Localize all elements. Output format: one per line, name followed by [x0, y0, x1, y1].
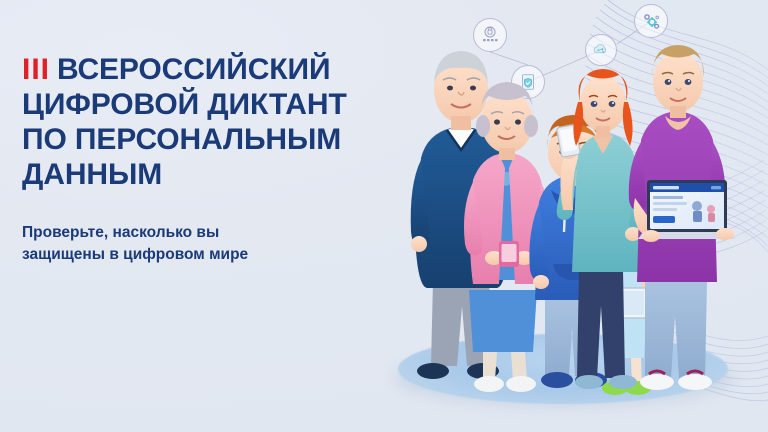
headline-line-1: ВСЕРОССИЙСКИЙ	[57, 53, 330, 86]
edition-number: III	[22, 53, 50, 86]
page-title: IIIВСЕРОССИЙСКИЙ ЦИФРОВОЙ ДИКТАНТ ПО ПЕР…	[22, 52, 442, 192]
headline-line-4: ДАННЫМ	[22, 158, 162, 191]
people-illustration	[395, 30, 735, 430]
headline-line-3: ПО ПЕРСОНАЛЬНЫМ	[22, 123, 341, 156]
subtitle-line-2: защищены в цифровом мире	[22, 246, 248, 263]
page-subtitle: Проверьте, насколько вы защищены в цифро…	[22, 222, 322, 266]
subtitle-line-1: Проверьте, насколько вы	[22, 224, 219, 241]
headline-block: IIIВСЕРОССИЙСКИЙ ЦИФРОВОЙ ДИКТАНТ ПО ПЕР…	[22, 52, 442, 266]
promo-banner: IIIВСЕРОССИЙСКИЙ ЦИФРОВОЙ ДИКТАНТ ПО ПЕР…	[0, 0, 768, 432]
headline-line-2: ЦИФРОВОЙ ДИКТАНТ	[22, 88, 347, 121]
